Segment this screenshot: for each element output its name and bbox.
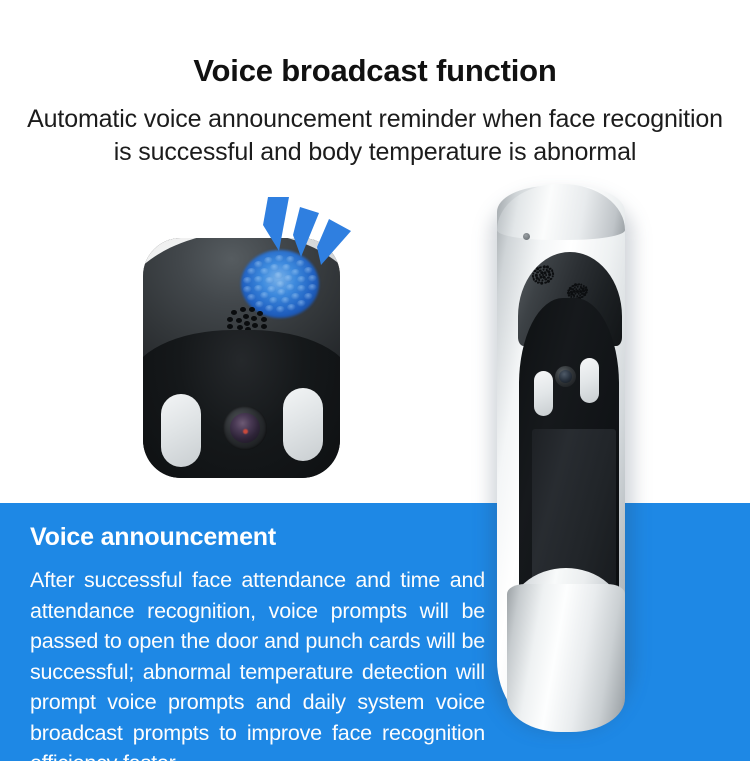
- camera-lens-highlight: [243, 429, 248, 434]
- header: Voice broadcast function Automatic voice…: [0, 0, 750, 169]
- camera-lens-icon: [555, 366, 576, 387]
- product-feature-page: Voice broadcast function Automatic voice…: [0, 0, 750, 761]
- terminal-base: [507, 584, 625, 732]
- page-title: Voice broadcast function: [0, 0, 750, 86]
- ir-led-icon: [161, 394, 201, 467]
- sound-wave-icon: [255, 195, 365, 275]
- info-panel-heading: Voice announcement: [30, 523, 276, 552]
- face-recognition-terminal: [487, 186, 637, 734]
- page-subtitle: Automatic voice announcement reminder wh…: [0, 86, 750, 169]
- camera-lens-glass: [559, 370, 572, 383]
- info-panel-body: After successful face attendance and tim…: [30, 565, 485, 761]
- ir-led-icon: [283, 388, 323, 461]
- info-panel: Voice announcement After successful face…: [0, 503, 750, 761]
- ir-led-icon: [534, 371, 553, 416]
- camera-lens-icon: [223, 406, 267, 450]
- ambient-sensor-icon: [523, 233, 530, 240]
- camera-lens-glass: [230, 413, 260, 443]
- ir-led-icon: [580, 358, 599, 403]
